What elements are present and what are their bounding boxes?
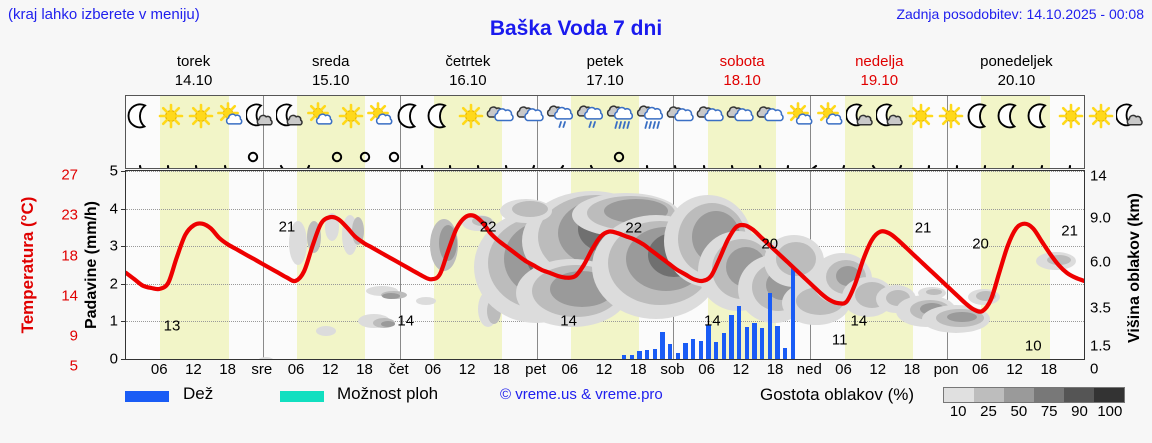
precipitation-tick: 5 xyxy=(100,163,118,180)
cloud-density-tick: 90 xyxy=(1071,403,1088,420)
temperature-tick: 9 xyxy=(44,328,78,345)
sun-icon xyxy=(156,97,186,137)
temperature-value-label: 20 xyxy=(972,236,989,253)
day-date: 17.10 xyxy=(536,71,673,90)
wind-barb-icon xyxy=(999,138,1027,168)
day-header-2: četrtek16.10 xyxy=(399,52,536,92)
day-header-3: petek17.10 xyxy=(536,52,673,92)
day-header-4: sobota18.10 xyxy=(674,52,811,92)
showers-legend-label: Možnost ploh xyxy=(337,384,438,404)
x-tick-06: 06 xyxy=(425,361,442,378)
cloud-density-swatch-90 xyxy=(1064,388,1094,402)
temperature-tick: 14 xyxy=(44,288,78,305)
cloud-density-swatch-10 xyxy=(944,388,974,402)
day-header-1: sreda15.10 xyxy=(262,52,399,92)
x-tick-18: 18 xyxy=(904,361,921,378)
day-date: 16.10 xyxy=(399,71,536,90)
day-name: ponedeljek xyxy=(948,52,1085,71)
temperature-value-label: 11 xyxy=(832,332,848,349)
x-tick-06: 06 xyxy=(972,361,989,378)
sun-icon xyxy=(936,97,966,137)
precipitation-axis-title-text: Padavine (mm/h) xyxy=(83,201,101,329)
wind-barb-icon xyxy=(971,138,999,168)
x-tick-12: 12 xyxy=(733,361,750,378)
wind-calm-icon xyxy=(605,138,633,168)
sun-cloud-icon xyxy=(216,97,246,137)
day-header-row: torek14.10sreda15.10četrtek16.10petek17.… xyxy=(125,52,1085,92)
cloud-icon xyxy=(486,97,516,137)
x-tick-12: 12 xyxy=(869,361,886,378)
cloud-density-legend-label: Gostota oblakov (%) xyxy=(760,385,914,405)
cloud-density-tick: 25 xyxy=(980,403,997,420)
x-tick-12: 12 xyxy=(322,361,339,378)
sun-icon xyxy=(906,97,936,137)
day-header-0: torek14.10 xyxy=(125,52,262,92)
temperature-axis-title: Temperatura (°C) xyxy=(14,170,42,360)
cloud-density-tick: 50 xyxy=(1010,403,1027,420)
x-tick-sre: sre xyxy=(251,361,272,378)
cloud-rain-icon xyxy=(606,97,636,137)
x-tick-06: 06 xyxy=(151,361,168,378)
wind-barb-icon xyxy=(774,138,802,168)
meteogram-page: (kraj lahko izberete v meniju) Baška Vod… xyxy=(0,0,1152,443)
cloud-density-scale-ticks: 1025507590100 xyxy=(943,403,1125,421)
day-header-6: ponedeljek20.10 xyxy=(948,52,1085,92)
x-tick-06: 06 xyxy=(835,361,852,378)
wind-barb-icon xyxy=(464,138,492,168)
wind-barb-icon xyxy=(126,138,154,168)
wind-barb-icon xyxy=(211,138,239,168)
showers-legend-swatch xyxy=(280,391,324,402)
day-name: sobota xyxy=(674,52,811,71)
x-tick-čet: čet xyxy=(389,361,409,378)
x-tick-18: 18 xyxy=(767,361,784,378)
precipitation-tick: 3 xyxy=(100,238,118,255)
moon-cloud-icon xyxy=(876,97,906,137)
sun-icon xyxy=(1056,97,1086,137)
day-name: torek xyxy=(125,52,262,71)
day-date: 18.10 xyxy=(674,71,811,90)
sun-cloud-icon xyxy=(816,97,846,137)
temperature-tick: 27 xyxy=(44,167,78,184)
temperature-value-label: 10 xyxy=(1025,337,1042,354)
x-axis-tick-labels: 061218sre061218čet061218pet061218sob0612… xyxy=(125,361,1085,381)
temperature-tick: 18 xyxy=(44,248,78,265)
moon-icon xyxy=(966,97,996,137)
temperature-axis-title-text: Temperatura (°C) xyxy=(18,197,38,334)
wind-barb-icon xyxy=(689,138,717,168)
wind-barb-icon xyxy=(408,138,436,168)
moon-icon xyxy=(996,97,1026,137)
wind-barb-icon xyxy=(943,138,971,168)
temperature-value-label: 21 xyxy=(279,219,296,236)
last-update-label: Zadnja posodobitev: 14.10.2025 - 00:08 xyxy=(896,6,1144,22)
x-tick-18: 18 xyxy=(630,361,647,378)
cloud-density-swatch-25 xyxy=(974,388,1004,402)
cloud-density-tick: 75 xyxy=(1041,403,1058,420)
x-tick-06: 06 xyxy=(561,361,578,378)
x-tick-06: 06 xyxy=(288,361,305,378)
wind-barb-icon xyxy=(182,138,210,168)
weather-icon-row xyxy=(126,97,1084,137)
cloud-icon xyxy=(726,97,756,137)
temperature-value-label: 20 xyxy=(761,236,778,253)
cloud-rain-icon xyxy=(636,97,666,137)
wind-barb-icon xyxy=(492,138,520,168)
temperature-value-label: 14 xyxy=(704,313,721,330)
wind-barb-icon xyxy=(520,138,548,168)
cloudheight-tick: 14 xyxy=(1090,168,1122,185)
wind-barb-icon xyxy=(1028,138,1056,168)
moon-cloud-icon xyxy=(276,97,306,137)
meteogram-plot: 1321142214221420142111201021 xyxy=(125,170,1085,360)
rain-legend-swatch xyxy=(125,391,169,402)
wind-barb-icon xyxy=(267,138,295,168)
wind-barb-icon xyxy=(915,138,943,168)
moon-icon xyxy=(396,97,426,137)
temperature-value-label: 21 xyxy=(915,220,932,237)
wind-calm-icon xyxy=(380,138,408,168)
cloud-density-tick: 10 xyxy=(950,403,967,420)
cloud-density-scale xyxy=(943,387,1125,403)
day-date: 15.10 xyxy=(262,71,399,90)
wind-barb-icon xyxy=(633,138,661,168)
sun-icon xyxy=(1086,97,1116,137)
moon-cloud-icon xyxy=(846,97,876,137)
precipitation-tick: 2 xyxy=(100,275,118,292)
wind-barb-icon xyxy=(154,138,182,168)
x-tick-ned: ned xyxy=(797,361,822,378)
rain-legend-label: Dež xyxy=(183,384,213,404)
precipitation-axis-title: Padavine (mm/h) xyxy=(80,170,104,360)
wind-barb-icon xyxy=(661,138,689,168)
x-tick-06: 06 xyxy=(698,361,715,378)
cloud-icon xyxy=(666,97,696,137)
sun-icon xyxy=(456,97,486,137)
temperature-tick: 5 xyxy=(44,358,78,375)
sun-cloud-icon xyxy=(366,97,396,137)
wind-barb-icon xyxy=(1056,138,1084,168)
moon-icon xyxy=(1026,97,1056,137)
wind-barb-icon xyxy=(746,138,774,168)
temperature-value-label: 22 xyxy=(625,220,642,237)
copyright-link[interactable]: © vreme.us & vreme.pro xyxy=(500,386,663,403)
wind-barb-icon xyxy=(436,138,464,168)
moon-icon xyxy=(126,97,156,137)
moon-icon xyxy=(426,97,456,137)
cloud-density-tick: 100 xyxy=(1097,403,1122,420)
x-tick-pet: pet xyxy=(525,361,546,378)
temperature-tick: 23 xyxy=(44,207,78,224)
wind-barb-icon xyxy=(802,138,830,168)
x-tick-pon: pon xyxy=(934,361,959,378)
x-tick-12: 12 xyxy=(596,361,613,378)
moon-cloud-icon xyxy=(1116,97,1146,137)
wind-barb-row xyxy=(126,138,1084,168)
precipitation-tick: 4 xyxy=(100,200,118,217)
cloud-rain-light-icon xyxy=(546,97,576,137)
x-tick-18: 18 xyxy=(1040,361,1057,378)
x-tick-18: 18 xyxy=(493,361,510,378)
wind-calm-icon xyxy=(351,138,379,168)
cloud-rain-light-icon xyxy=(576,97,606,137)
precipitation-tick: 1 xyxy=(100,313,118,330)
x-tick-12: 12 xyxy=(459,361,476,378)
wind-barb-icon xyxy=(549,138,577,168)
cloud-density-swatch-100 xyxy=(1094,388,1124,402)
sun-cloud-icon xyxy=(786,97,816,137)
cloud-density-swatch-75 xyxy=(1034,388,1064,402)
moon-cloud-icon xyxy=(246,97,276,137)
x-tick-18: 18 xyxy=(219,361,236,378)
day-name: četrtek xyxy=(399,52,536,71)
sun-icon xyxy=(336,97,366,137)
wind-calm-icon xyxy=(239,138,267,168)
wind-barb-icon xyxy=(718,138,746,168)
temperature-value-label: 14 xyxy=(851,313,868,330)
temperature-value-label: 14 xyxy=(397,313,414,330)
day-date: 14.10 xyxy=(125,71,262,90)
cloudheight-axis-title: Višina oblakov (km) xyxy=(1122,170,1148,365)
day-name: petek xyxy=(536,52,673,71)
wind-barb-icon xyxy=(887,138,915,168)
legend: Dež Možnost ploh © vreme.us & vreme.pro … xyxy=(125,386,1145,426)
day-name: sreda xyxy=(262,52,399,71)
cloud-icon xyxy=(756,97,786,137)
cloudheight-tick: 3.5 xyxy=(1090,300,1122,317)
day-name: nedelja xyxy=(811,52,948,71)
temperature-value-label: 13 xyxy=(164,318,181,335)
cloudheight-axis-title-text: Višina oblakov (km) xyxy=(1126,193,1144,343)
cloudheight-tick: 1.5 xyxy=(1090,338,1122,355)
temperature-value-label: 22 xyxy=(480,219,497,236)
x-tick-12: 12 xyxy=(185,361,202,378)
day-date: 20.10 xyxy=(948,71,1085,90)
x-tick-18: 18 xyxy=(356,361,373,378)
sun-icon xyxy=(186,97,216,137)
temperature-extreme-labels: 1321142214221420142111201021 xyxy=(126,171,1084,359)
precipitation-tick: 0 xyxy=(100,351,118,368)
weather-icon-panel xyxy=(125,95,1085,169)
temperature-value-label: 21 xyxy=(1061,223,1078,240)
x-tick-sob: sob xyxy=(660,361,684,378)
cloud-icon xyxy=(696,97,726,137)
wind-barb-icon xyxy=(295,138,323,168)
cloud-icon xyxy=(516,97,546,137)
x-tick-12: 12 xyxy=(1006,361,1023,378)
sun-cloud-icon xyxy=(306,97,336,137)
cloudheight-tick: 9.0 xyxy=(1090,210,1122,227)
cloud-density-swatch-50 xyxy=(1004,388,1034,402)
day-date: 19.10 xyxy=(811,71,948,90)
temperature-value-label: 14 xyxy=(560,313,577,330)
wind-barb-icon xyxy=(830,138,858,168)
day-header-5: nedelja19.10 xyxy=(811,52,948,92)
wind-barb-icon xyxy=(858,138,886,168)
cloudheight-tick: 0 xyxy=(1090,361,1122,378)
cloudheight-tick: 6.0 xyxy=(1090,254,1122,271)
wind-barb-icon xyxy=(577,138,605,168)
wind-calm-icon xyxy=(323,138,351,168)
